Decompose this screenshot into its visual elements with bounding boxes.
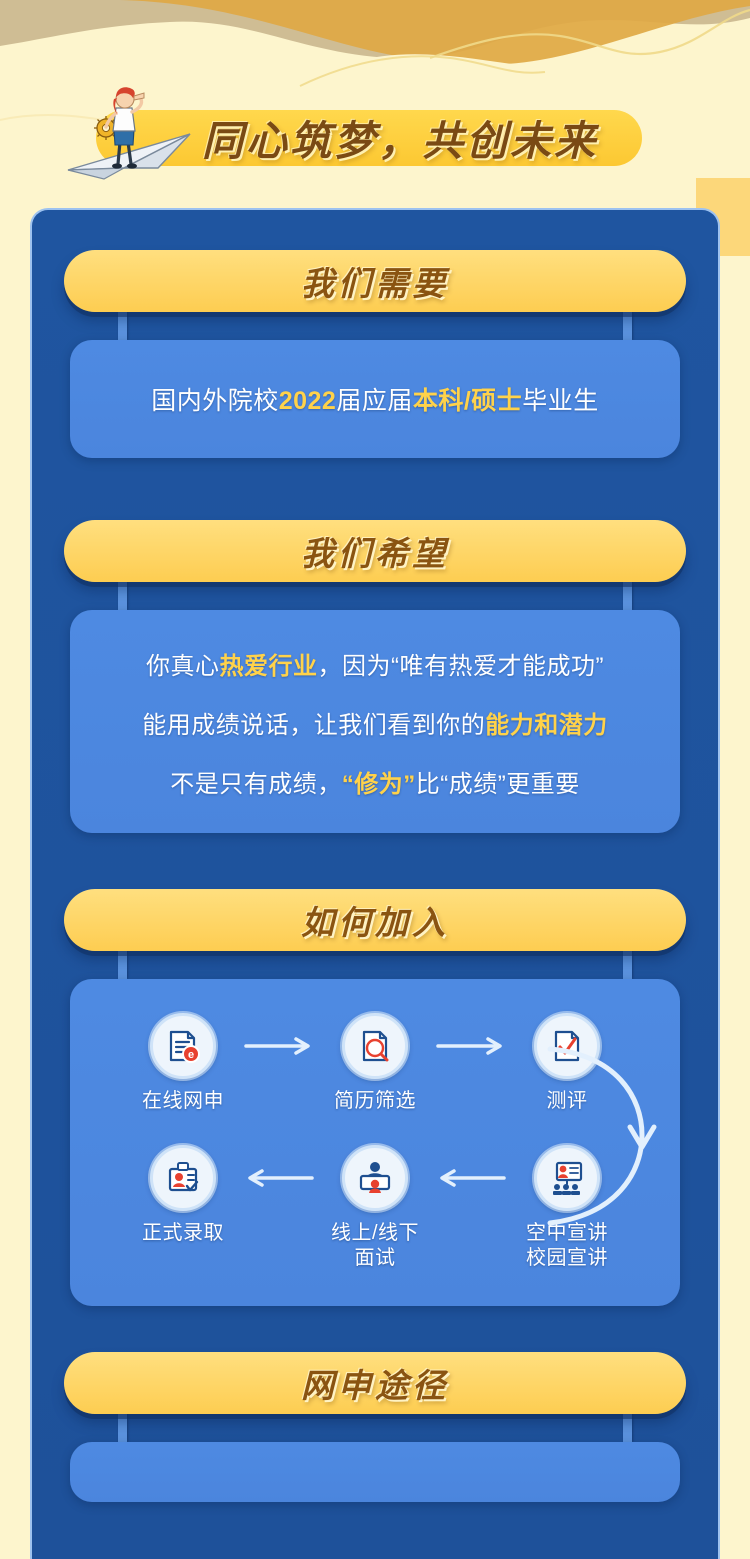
flow-curved-arrow bbox=[542, 1031, 662, 1241]
pill-connectors bbox=[64, 1414, 686, 1442]
svg-text:e: e bbox=[188, 1049, 194, 1061]
text-part-highlight: 能力和潜力 bbox=[485, 712, 608, 739]
text-part: 届应届 bbox=[336, 387, 413, 415]
section-we-hope: 我们希望 你真心热爱行业，因为“唯有热爱才能成功” 能用成绩说话，让我们看到你的… bbox=[32, 520, 718, 833]
flow-node-online-application: e 在线网申 bbox=[124, 1013, 242, 1113]
pill-connectors bbox=[64, 312, 686, 340]
text-part: 国内外院校 bbox=[151, 387, 279, 415]
card-we-hope: 你真心热爱行业，因为“唯有热爱才能成功” 能用成绩说话，让我们看到你的能力和潜力… bbox=[70, 610, 680, 833]
we-need-text: 国内外院校2022届应届本科/硕士毕业生 bbox=[151, 381, 599, 417]
pill-label: 网申途径 bbox=[301, 1359, 449, 1407]
card-we-need: 国内外院校2022届应届本科/硕士毕业生 bbox=[70, 340, 680, 458]
hope-line: 你真心热爱行业，因为“唯有热爱才能成功” bbox=[146, 646, 604, 681]
flow-node-interview: 线上/线下 面试 bbox=[316, 1145, 434, 1270]
section-how-to-join: 如何加入 bbox=[32, 889, 718, 1306]
offer-accepted-icon bbox=[150, 1145, 216, 1211]
pill-connectors bbox=[64, 582, 686, 610]
text-part-highlight: “修为” bbox=[342, 771, 416, 798]
pill-label: 如何加入 bbox=[301, 896, 449, 944]
text-part: 比“成绩”更重要 bbox=[416, 771, 580, 798]
text-part-highlight: 2022 bbox=[279, 387, 337, 415]
section-we-need: 我们需要 国内外院校2022届应届本科/硕士毕业生 bbox=[32, 250, 718, 458]
text-part-highlight: 本科/硕士 bbox=[413, 387, 522, 415]
person-on-paper-plane-icon bbox=[62, 82, 212, 182]
section-header-how-to-join: 如何加入 bbox=[64, 889, 686, 951]
pill-label: 我们需要 bbox=[301, 257, 449, 305]
flow-node-label: 简历筛选 bbox=[334, 1089, 416, 1113]
flow-arrow-left bbox=[434, 1145, 508, 1211]
interview-icon bbox=[342, 1145, 408, 1211]
text-part: 毕业生 bbox=[522, 387, 599, 415]
section-header-we-need: 我们需要 bbox=[64, 250, 686, 312]
section-header-application-channel: 网申途径 bbox=[64, 1352, 686, 1414]
text-part: 不是只有成绩， bbox=[170, 771, 342, 798]
flow-node-offer-accepted: 正式录取 bbox=[124, 1145, 242, 1245]
flow-arrow-left bbox=[242, 1145, 316, 1211]
card-application-channel bbox=[70, 1442, 680, 1502]
online-application-icon: e bbox=[150, 1013, 216, 1079]
text-part: 能用成绩说话，让我们看到你的 bbox=[142, 712, 485, 739]
flow-arrow-right bbox=[242, 1013, 316, 1079]
pill-label: 我们希望 bbox=[301, 527, 449, 575]
section-header-we-hope: 我们希望 bbox=[64, 520, 686, 582]
text-part-highlight: 热爱行业 bbox=[220, 653, 318, 680]
text-part: 你真心 bbox=[146, 653, 220, 680]
pill-connectors bbox=[64, 951, 686, 979]
recruitment-poster: 同心筑梦，共创未来 我们需要 国内外院校2022届应届本科/硕士毕业生 我们希望 bbox=[0, 0, 750, 1559]
hope-line: 能用成绩说话，让我们看到你的能力和潜力 bbox=[142, 705, 608, 740]
flow-node-resume-screening: 简历筛选 bbox=[316, 1013, 434, 1113]
main-blue-panel: 我们需要 国内外院校2022届应届本科/硕士毕业生 我们希望 bbox=[30, 208, 720, 1559]
card-how-to-join: e 在线网申 bbox=[70, 979, 680, 1306]
poster-title: 同心筑梦，共创未来 bbox=[150, 104, 650, 170]
resume-screening-icon bbox=[342, 1013, 408, 1079]
section-application-channel: 网申途径 bbox=[32, 1352, 718, 1502]
flow-node-label: 在线网申 bbox=[142, 1089, 224, 1113]
hope-line: 不是只有成绩，“修为”比“成绩”更重要 bbox=[170, 764, 579, 799]
text-part: ，因为“唯有热爱才能成功” bbox=[318, 653, 604, 680]
flow-node-label: 线上/线下 面试 bbox=[331, 1221, 419, 1270]
flow-node-label: 正式录取 bbox=[142, 1221, 224, 1245]
flow-arrow-right bbox=[434, 1013, 508, 1079]
